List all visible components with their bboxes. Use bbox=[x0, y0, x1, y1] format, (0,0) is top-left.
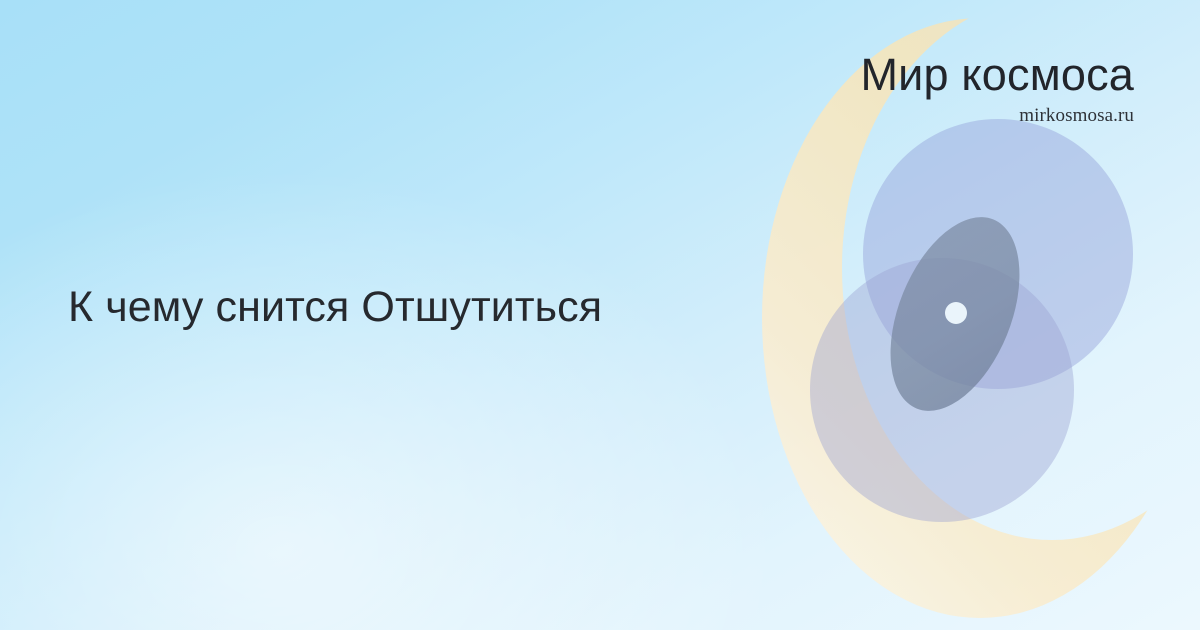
page-title: К чему снится Отшутиться bbox=[68, 281, 602, 333]
center-dot bbox=[945, 302, 967, 324]
brand-url[interactable]: mirkosmosa.ru bbox=[860, 106, 1134, 125]
brand-title: Мир космоса bbox=[860, 52, 1134, 97]
share-card: Мир космоса mirkosmosa.ru К чему снится … bbox=[0, 0, 1200, 630]
brand-block[interactable]: Мир космоса mirkosmosa.ru bbox=[860, 52, 1134, 125]
background-sheen bbox=[0, 170, 780, 630]
